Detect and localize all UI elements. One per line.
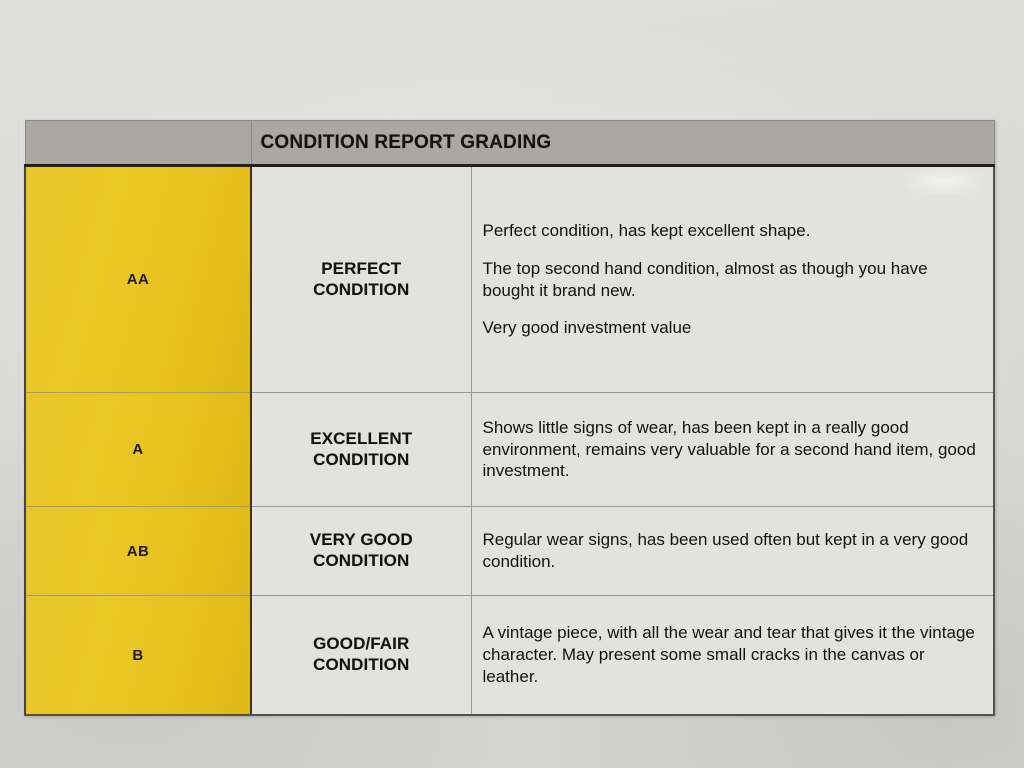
grade-code-ab: AB xyxy=(25,507,251,596)
description-a: Shows little signs of wear, has been kep… xyxy=(471,393,994,507)
condition-report-grading-table: CONDITION REPORT GRADING AA PERFECT COND… xyxy=(24,120,995,716)
description-paragraph: Perfect condition, has kept excellent sh… xyxy=(483,220,980,242)
description-aa: Perfect condition, has kept excellent sh… xyxy=(471,166,994,393)
table-row: B GOOD/FAIR CONDITION A vintage piece, w… xyxy=(25,596,994,716)
description-paragraph: Shows little signs of wear, has been kep… xyxy=(483,417,980,482)
condition-name-line-1: VERY GOOD xyxy=(252,530,471,551)
grade-code-a: A xyxy=(25,393,251,507)
grade-code-aa: AA xyxy=(25,166,251,393)
condition-name-line-2: CONDITION xyxy=(252,450,471,471)
description-paragraph: Very good investment value xyxy=(483,317,980,339)
condition-name-line-1: EXCELLENT xyxy=(252,429,471,450)
condition-name-line-1: GOOD/FAIR xyxy=(252,634,471,655)
table-row: AA PERFECT CONDITION Perfect condition, … xyxy=(25,166,994,393)
description-ab: Regular wear signs, has been used often … xyxy=(471,507,994,596)
condition-name-line-2: CONDITION xyxy=(252,280,471,301)
condition-name-a: EXCELLENT CONDITION xyxy=(251,393,471,507)
condition-name-line-2: CONDITION xyxy=(252,551,471,572)
description-paragraph: Regular wear signs, has been used often … xyxy=(483,529,980,573)
table-header-row: CONDITION REPORT GRADING xyxy=(25,121,994,166)
table-row: A EXCELLENT CONDITION Shows little signs… xyxy=(25,393,994,507)
description-paragraph: A vintage piece, with all the wear and t… xyxy=(483,622,980,687)
table-header: CONDITION REPORT GRADING xyxy=(25,121,994,166)
grade-code-b: B xyxy=(25,596,251,716)
table-row: AB VERY GOOD CONDITION Regular wear sign… xyxy=(25,507,994,596)
condition-name-b: GOOD/FAIR CONDITION xyxy=(251,596,471,716)
table-title: CONDITION REPORT GRADING xyxy=(251,121,994,166)
header-blank-cell xyxy=(25,121,251,166)
condition-name-ab: VERY GOOD CONDITION xyxy=(251,507,471,596)
condition-name-aa: PERFECT CONDITION xyxy=(251,166,471,393)
description-paragraph: The top second hand condition, almost as… xyxy=(483,258,980,302)
condition-name-line-1: PERFECT xyxy=(252,259,471,280)
description-b: A vintage piece, with all the wear and t… xyxy=(471,596,994,716)
condition-name-line-2: CONDITION xyxy=(252,655,471,676)
table-body: AA PERFECT CONDITION Perfect condition, … xyxy=(25,166,994,716)
